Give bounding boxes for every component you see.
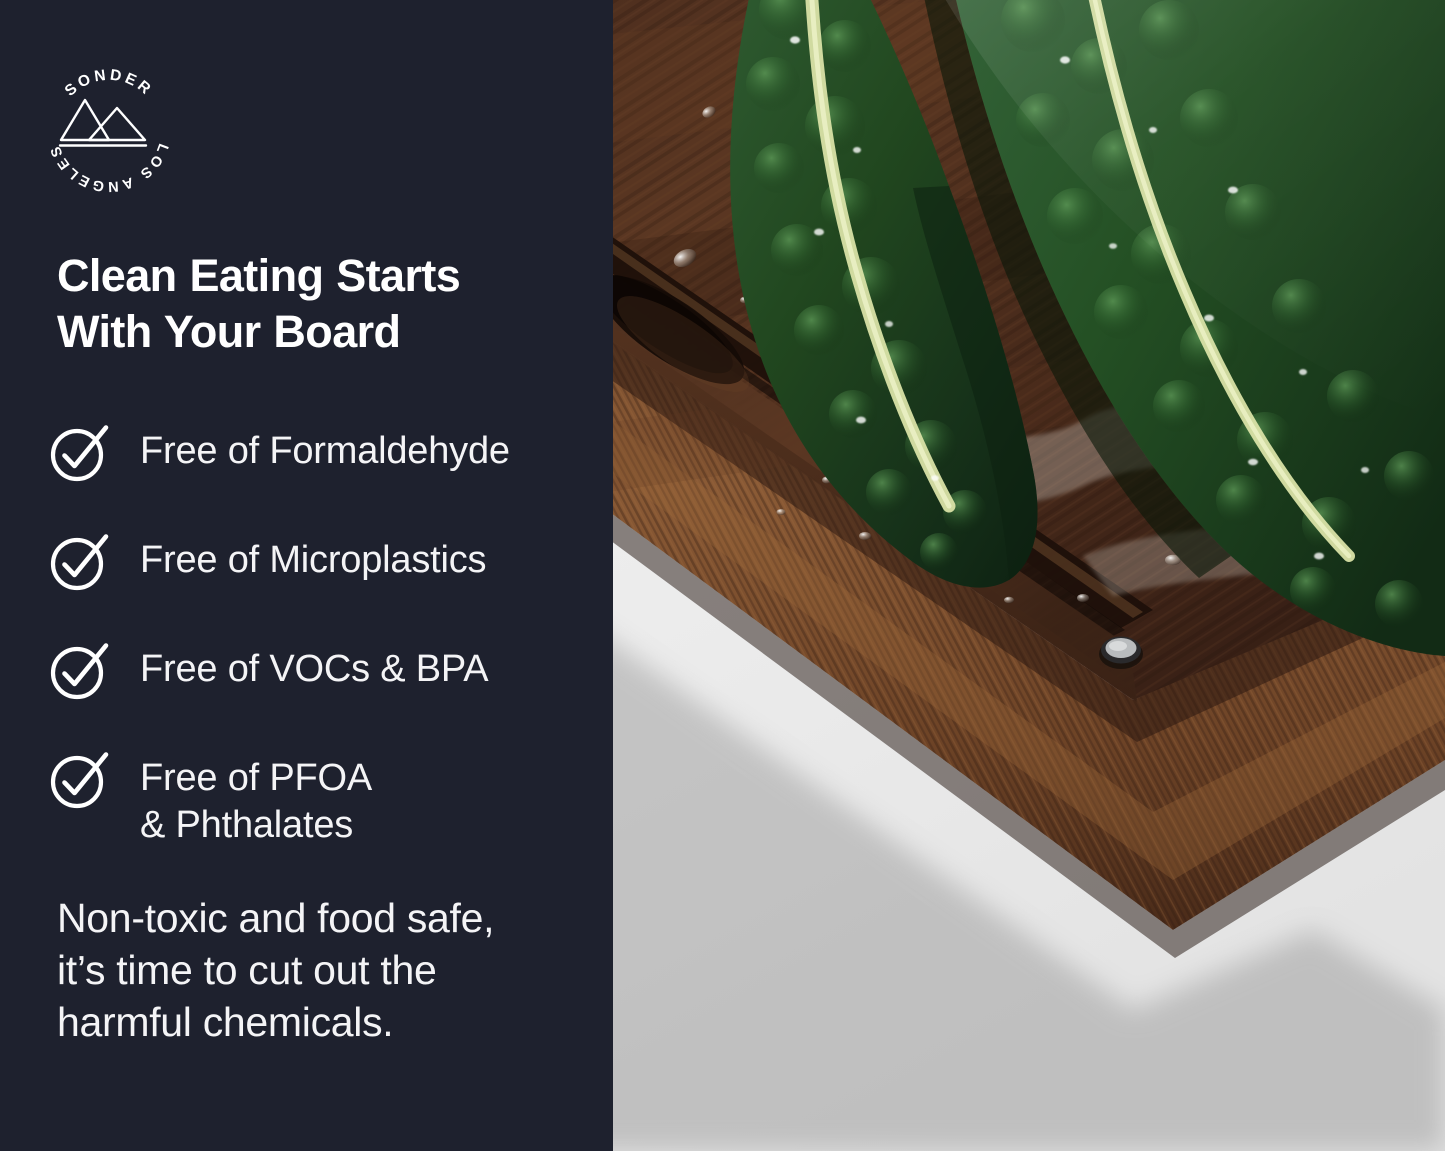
checklist-item-label: Free of Microplastics xyxy=(140,533,486,584)
checklist-label-line-2: & Phthalates xyxy=(140,802,372,849)
checklist-item-vocs-bpa: Free of VOCs & BPA xyxy=(48,642,608,702)
brand-logo: SONDER LOS ANGELES xyxy=(33,52,185,204)
check-circle-icon xyxy=(48,749,110,811)
product-photo xyxy=(613,0,1445,1151)
check-circle-icon xyxy=(48,531,110,593)
headline-line-2: With Your Board xyxy=(57,304,597,360)
logo-arc-top-text: SONDER xyxy=(62,67,156,100)
checklist-label-line-1: Free of VOCs & BPA xyxy=(140,646,488,693)
benefit-checklist: Free of Formaldehyde Free of Microplasti… xyxy=(48,424,608,849)
check-circle-icon xyxy=(48,640,110,702)
checklist-item-label: Free of Formaldehyde xyxy=(140,424,510,475)
closing-paragraph: Non-toxic and food safe, it’s time to cu… xyxy=(57,892,602,1048)
checklist-label-line-1: Free of PFOA xyxy=(140,755,372,802)
checklist-item-pfoa-phthalates: Free of PFOA & Phthalates xyxy=(48,751,608,849)
check-circle-icon xyxy=(48,422,110,484)
closing-line-1: Non-toxic and food safe, xyxy=(57,892,602,944)
checklist-label-line-1: Free of Formaldehyde xyxy=(140,428,510,475)
closing-line-3: harmful chemicals. xyxy=(57,996,602,1048)
logo-arc-bottom-text: LOS ANGELES xyxy=(47,141,171,194)
closing-line-2: it’s time to cut out the xyxy=(57,944,602,996)
checklist-item-formaldehyde: Free of Formaldehyde xyxy=(48,424,608,484)
mountain-emblem-icon xyxy=(60,100,146,146)
headline-line-1: Clean Eating Starts xyxy=(57,248,597,304)
checklist-item-label: Free of VOCs & BPA xyxy=(140,642,488,693)
headline: Clean Eating Starts With Your Board xyxy=(57,248,597,360)
checklist-item-label: Free of PFOA & Phthalates xyxy=(140,751,372,849)
promotional-product-banner: SONDER LOS ANGELES Clean Eating Starts W… xyxy=(0,0,1445,1151)
info-panel: SONDER LOS ANGELES Clean Eating Starts W… xyxy=(0,0,613,1151)
checklist-item-microplastics: Free of Microplastics xyxy=(48,533,608,593)
checklist-label-line-1: Free of Microplastics xyxy=(140,537,486,584)
